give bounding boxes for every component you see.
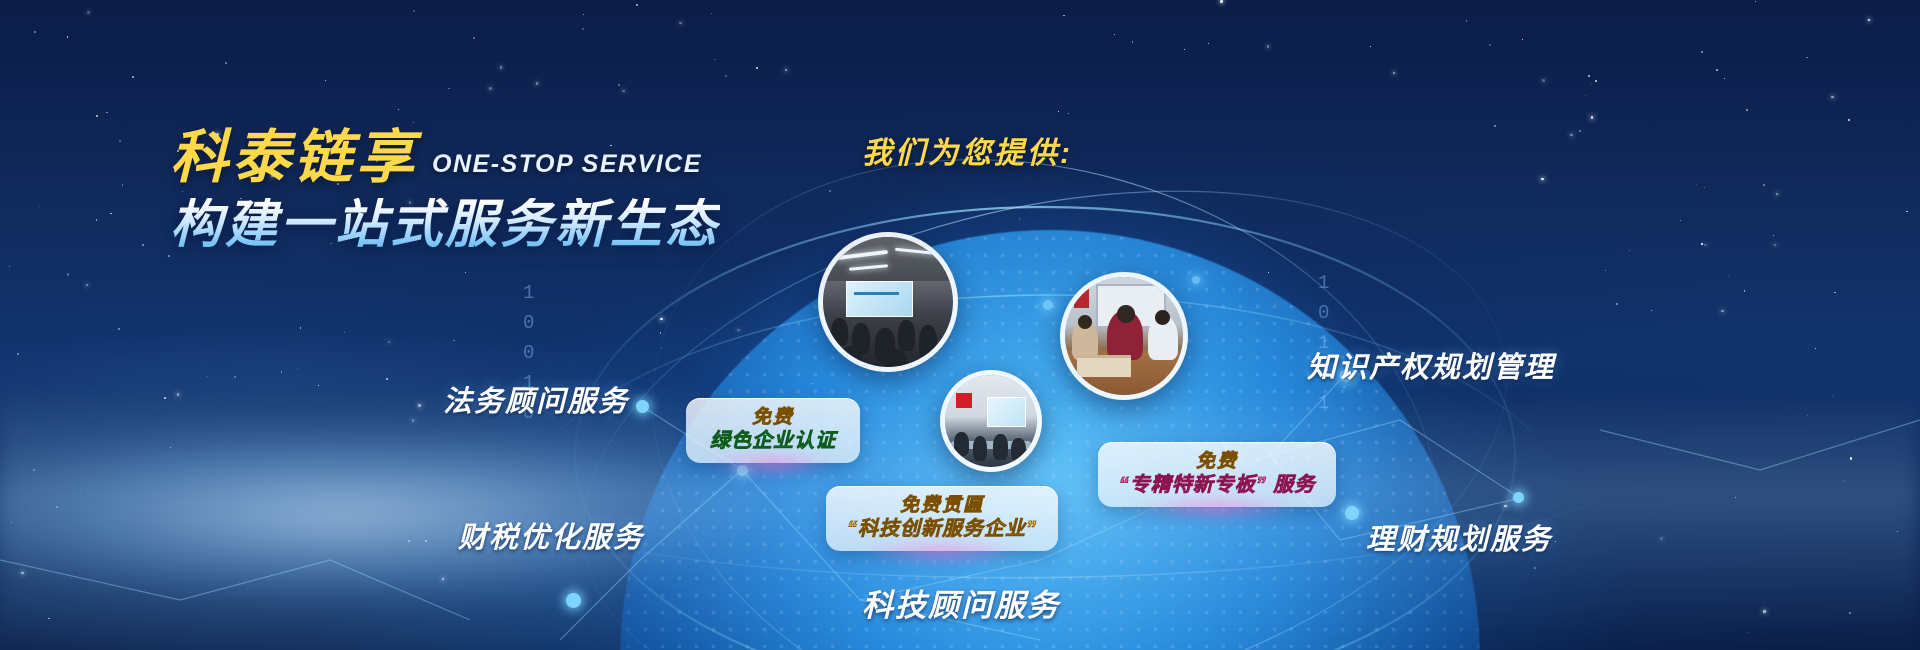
consulting-desk-photo (1060, 272, 1188, 400)
orbit-node (1513, 492, 1524, 503)
badge-line2: 绿色企业认证 (702, 429, 844, 453)
badge-glow (1131, 495, 1302, 521)
badge-glow (858, 539, 1025, 565)
badge-line1: 免费 (702, 407, 844, 429)
service-label-wealth-planning: 理财规划服务 (1366, 516, 1552, 558)
badge-tech-innovation: 免费贯匾 “科技创新服务企业” (826, 486, 1058, 551)
service-label-legal-advisory: 法务顾问服务 (443, 378, 629, 420)
orbit-node (1192, 276, 1200, 284)
service-label-tech-advisory: 科技顾问服务 (862, 580, 1060, 625)
orbit-node (636, 400, 649, 413)
badge-line1: 免费贯匾 (842, 495, 1042, 517)
meeting-room-photo (940, 370, 1042, 472)
orbit-node (1345, 506, 1359, 520)
headline-subtitle: 构建一站式服务新生态 (170, 198, 720, 253)
badge-line1: 免费 (1114, 451, 1320, 473)
badge-line2: “科技创新服务企业” (842, 517, 1042, 541)
orbit-node (566, 593, 581, 608)
seminar-hall-photo (818, 232, 958, 372)
badge-line2: “专精特新专板” 服务 (1114, 473, 1320, 497)
service-label-finance-tax: 财税优化服务 (458, 514, 644, 556)
service-label-ip-planning: 知识产权规划管理 (1307, 344, 1555, 386)
badge-glow (710, 451, 835, 477)
badge-specialized-board: 免费 “专精特新专板” 服务 (1098, 442, 1336, 507)
badge-green-enterprise: 免费 绿色企业认证 (686, 398, 860, 463)
brand-title: 科泰链享 (170, 128, 418, 188)
hero-banner: 10010 10101 科泰链享 ONE-STOP SERVICE 构建一站式服… (0, 0, 1920, 650)
offer-heading: 我们为您提供: (862, 128, 1073, 172)
binary-column-right: 10101 (1318, 268, 1330, 418)
brand-english-tagline: ONE-STOP SERVICE (432, 150, 702, 179)
orbit-node (1043, 300, 1053, 310)
headline-block: 科泰链享 ONE-STOP SERVICE 构建一站式服务新生态 (170, 128, 720, 253)
